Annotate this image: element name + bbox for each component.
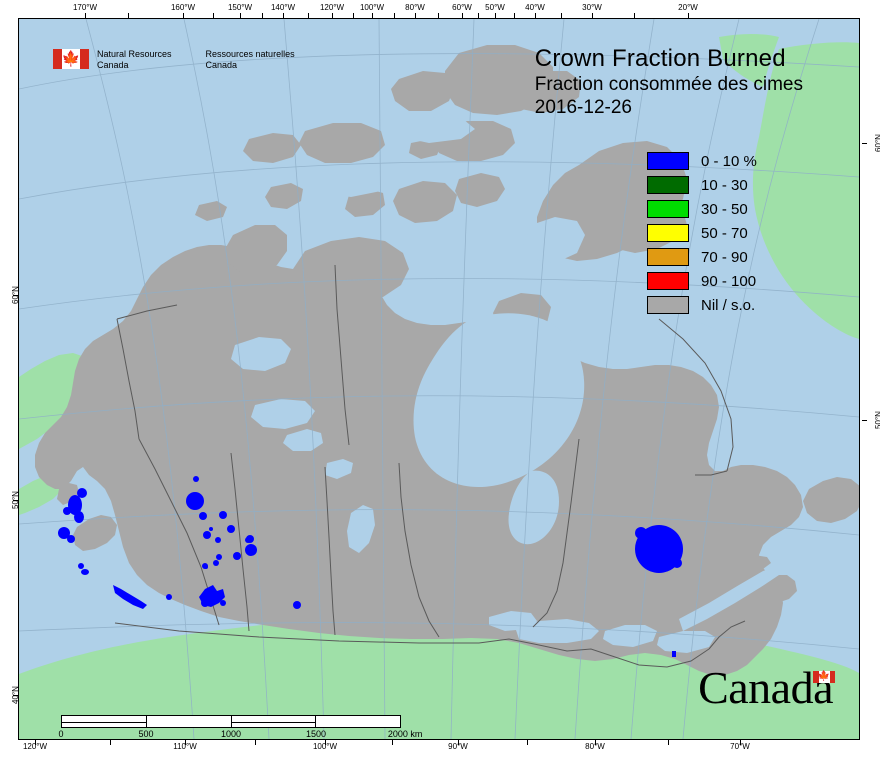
legend-swatch bbox=[647, 296, 689, 314]
legend-item: 90 - 100 bbox=[647, 269, 757, 293]
title-english: Crown Fraction Burned bbox=[535, 45, 803, 73]
axis-label-top: 150°W bbox=[228, 3, 252, 12]
legend-label: 10 - 30 bbox=[701, 177, 748, 194]
nrcan-fr-line2: Canada bbox=[206, 60, 295, 71]
map-frame: 🍁 Natural Resources Canada Ressources na… bbox=[18, 18, 860, 740]
axis-label-top: 140°W bbox=[271, 3, 295, 12]
axis-label-top: 20°W bbox=[678, 3, 698, 12]
map-title-block: Crown Fraction Burned Fraction consommée… bbox=[535, 45, 803, 119]
scale-bar: 0 500 1000 1500 2000 km bbox=[61, 715, 401, 740]
legend-item: 70 - 90 bbox=[647, 245, 757, 269]
legend-item: 50 - 70 bbox=[647, 221, 757, 245]
legend-item: 0 - 10 % bbox=[647, 149, 757, 173]
scale-tick-label: 500 bbox=[138, 729, 153, 739]
scale-segment bbox=[232, 716, 317, 727]
map-svg bbox=[19, 19, 859, 739]
scale-bar-labels: 0 500 1000 1500 2000 km bbox=[61, 729, 401, 740]
map-canvas bbox=[19, 19, 859, 739]
axis-label-right: 50°N bbox=[874, 411, 880, 429]
axis-label-top: 80°W bbox=[405, 3, 425, 12]
axis-label-top: 50°W bbox=[485, 3, 505, 12]
legend-label: 0 - 10 % bbox=[701, 153, 757, 170]
axis-label-top: 30°W bbox=[582, 3, 602, 12]
legend-label: 70 - 90 bbox=[701, 249, 748, 266]
canada-flag-icon: 🍁 bbox=[813, 671, 835, 683]
axis-label-top: 160°W bbox=[171, 3, 195, 12]
axis-label-top: 100°W bbox=[360, 3, 384, 12]
maple-leaf-icon: 🍁 bbox=[818, 672, 830, 682]
legend-label: 50 - 70 bbox=[701, 225, 748, 242]
axis-label-top: 40°W bbox=[525, 3, 545, 12]
legend-label: Nil / s.o. bbox=[701, 297, 755, 314]
legend: 0 - 10 % 10 - 30 30 - 50 50 - 70 70 - 90… bbox=[647, 149, 757, 317]
axis-label-top: 170°W bbox=[73, 3, 97, 12]
legend-item: Nil / s.o. bbox=[647, 293, 757, 317]
legend-item: 10 - 30 bbox=[647, 173, 757, 197]
axis-label-right: 60°N bbox=[874, 134, 880, 152]
scale-tick-label: 1000 bbox=[221, 729, 241, 739]
nrcan-french: Ressources naturelles Canada bbox=[206, 49, 295, 72]
scale-segment bbox=[62, 716, 147, 727]
legend-label: 30 - 50 bbox=[701, 201, 748, 218]
nrcan-en-line2: Canada bbox=[97, 60, 172, 71]
nrcan-fr-line1: Ressources naturelles bbox=[206, 49, 295, 60]
axis-label-top: 60°W bbox=[452, 3, 472, 12]
legend-item: 30 - 50 bbox=[647, 197, 757, 221]
scale-segment bbox=[316, 716, 400, 727]
canada-wordmark: Canada 🍁 bbox=[698, 667, 835, 709]
legend-swatch bbox=[647, 200, 689, 218]
title-french: Fraction consommée des cimes bbox=[535, 74, 803, 96]
scale-tick-label: 0 bbox=[58, 729, 63, 739]
nrcan-signature: 🍁 Natural Resources Canada Ressources na… bbox=[53, 49, 295, 72]
canada-flag-icon: 🍁 bbox=[53, 49, 89, 69]
scale-tick-label: 1500 bbox=[306, 729, 326, 739]
nrcan-english: Natural Resources Canada bbox=[97, 49, 172, 72]
maple-leaf-icon: 🍁 bbox=[62, 52, 81, 67]
legend-swatch bbox=[647, 248, 689, 266]
axis-label-top: 120°W bbox=[320, 3, 344, 12]
nrcan-en-line1: Natural Resources bbox=[97, 49, 172, 60]
legend-swatch bbox=[647, 152, 689, 170]
legend-swatch bbox=[647, 176, 689, 194]
scale-segment bbox=[147, 716, 232, 727]
scale-end-label: 2000 km bbox=[388, 729, 423, 739]
legend-swatch bbox=[647, 224, 689, 242]
title-date: 2016-12-26 bbox=[535, 97, 803, 119]
legend-label: 90 - 100 bbox=[701, 273, 756, 290]
legend-swatch bbox=[647, 272, 689, 290]
scale-bar-graphic bbox=[61, 715, 401, 728]
map-page: 🍁 Natural Resources Canada Ressources na… bbox=[0, 0, 880, 760]
